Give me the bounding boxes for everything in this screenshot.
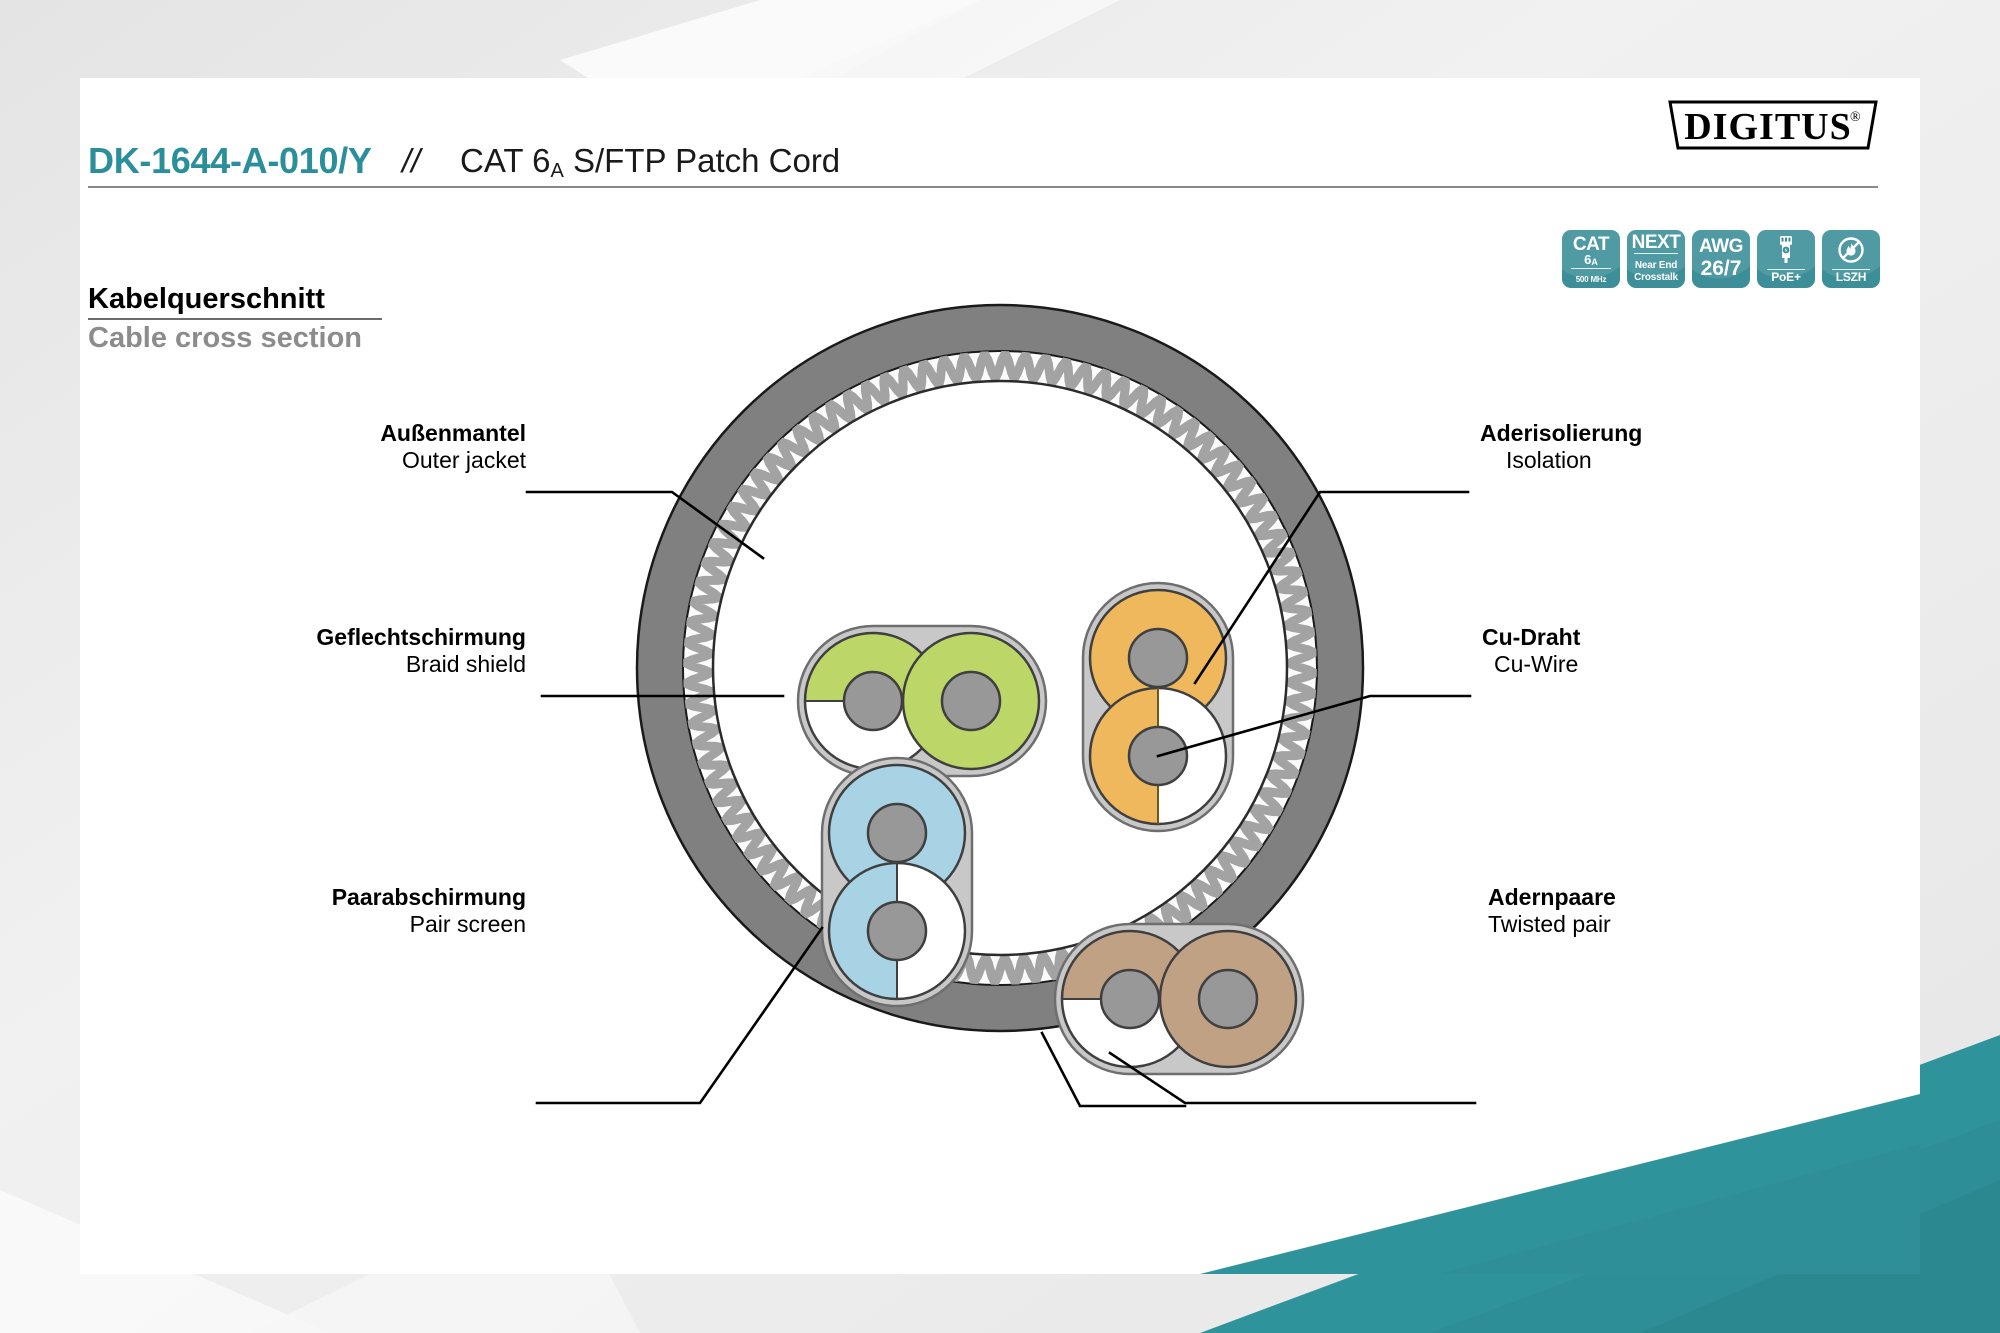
pair-group-blue (822, 758, 972, 1006)
callout-pair-screen: Paarabschirmung Pair screen (126, 884, 526, 938)
callout-twisted-pair-de: Adernpaare (1488, 884, 1848, 911)
callout-isolation-de: Aderisolierung (1480, 420, 1840, 447)
title-divider (88, 186, 1878, 188)
cable-diagram-svg (80, 228, 1920, 1228)
product-name: CAT 6A S/FTP Patch Cord (460, 142, 840, 180)
callout-pair-screen-en: Pair screen (126, 911, 526, 938)
callout-pair-screen-de: Paarabschirmung (126, 884, 526, 911)
content-card: DIGITUS ® DK-1644-A-010/Y // CAT 6A S/FT… (80, 78, 1920, 1274)
callout-cu-wire-en: Cu-Wire (1482, 651, 1842, 678)
cu-core (942, 672, 1000, 730)
callout-outer-jacket-en: Outer jacket (166, 447, 526, 474)
pair-group-orange (1083, 583, 1233, 831)
callout-twisted-pair: Adernpaare Twisted pair (1488, 884, 1848, 938)
callout-braid-shield-en: Braid shield (106, 651, 526, 678)
product-code: DK-1644-A-010/Y (88, 140, 372, 182)
callout-cu-wire: Cu-Draht Cu-Wire (1482, 624, 1842, 678)
cu-core (1101, 970, 1159, 1028)
pair-group-green (798, 626, 1046, 776)
cu-core (1129, 629, 1187, 687)
slide-page: DIGITUS ® DK-1644-A-010/Y // CAT 6A S/FT… (0, 0, 2000, 1333)
callout-cu-wire-de: Cu-Draht (1482, 624, 1842, 651)
pair-group-brown (1055, 924, 1303, 1074)
title-separator: // (402, 142, 420, 180)
cu-core (868, 804, 926, 862)
callout-braid-shield: Geflechtschirmung Braid shield (106, 624, 526, 678)
cu-core (1199, 970, 1257, 1028)
wire-brown-solid (1160, 931, 1296, 1067)
callout-isolation: Aderisolierung Isolation (1480, 420, 1840, 474)
callout-twisted-pair-en: Twisted pair (1488, 911, 1848, 938)
callout-isolation-en: Isolation (1480, 447, 1840, 474)
wire-blue-striped (829, 863, 965, 999)
callout-outer-jacket: Außenmantel Outer jacket (166, 420, 526, 474)
cu-core (844, 672, 902, 730)
wire-green-solid (903, 633, 1039, 769)
callout-outer-jacket-de: Außenmantel (166, 420, 526, 447)
callout-braid-shield-de: Geflechtschirmung (106, 624, 526, 651)
registered-mark: ® (1850, 110, 1861, 125)
product-title-row: DK-1644-A-010/Y // CAT 6A S/FTP Patch Co… (80, 140, 1920, 198)
cable-cross-section-diagram: Außenmantel Outer jacket Geflechtschirmu… (80, 228, 1920, 1228)
cu-core (868, 902, 926, 960)
